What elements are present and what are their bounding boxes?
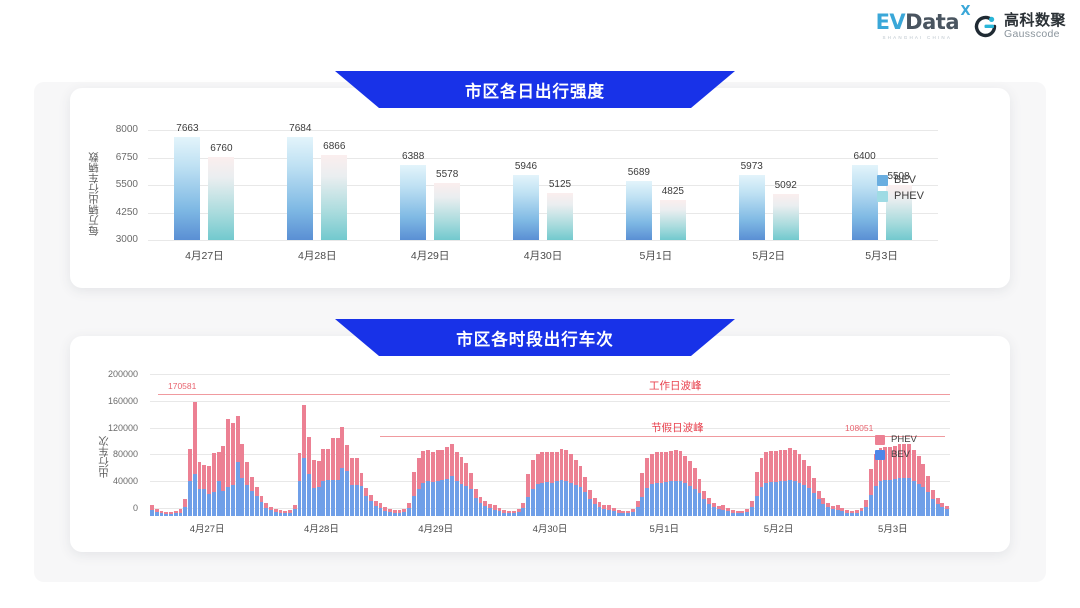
chart1-bar-value: 7684 — [277, 123, 323, 134]
chart2-segment-bev — [236, 462, 240, 516]
chart2-stacked-bar[interactable] — [307, 437, 311, 516]
chart2-stacked-bar[interactable] — [826, 503, 830, 516]
chart2-stacked-bar[interactable] — [283, 511, 287, 516]
chart2-segment-phev — [283, 511, 287, 513]
chart2-segment-bev — [217, 481, 221, 516]
chart2-y-tick: 0 — [90, 503, 138, 513]
chart2-segment-bev — [293, 509, 297, 516]
chart2-segment-phev — [488, 504, 492, 508]
chart2-segment-bev — [240, 478, 244, 516]
chart2-stacked-bar[interactable] — [160, 511, 164, 516]
chart2-stacked-bar[interactable] — [393, 510, 397, 516]
chart2-stacked-bar[interactable] — [626, 511, 630, 516]
chart2-plot-area — [150, 374, 950, 516]
chart2-segment-bev — [350, 485, 354, 516]
chart2-stacked-bar[interactable] — [436, 450, 440, 516]
chart2-stacked-bar[interactable] — [512, 511, 516, 516]
chart2-stacked-bar[interactable] — [564, 450, 568, 516]
chart2-stacked-bar[interactable] — [293, 505, 297, 516]
chart2-segment-bev — [364, 496, 368, 516]
chart1-bar-bev[interactable]: 5973 — [739, 175, 765, 240]
chart2-segment-bev — [902, 478, 906, 516]
chart2-segment-phev — [793, 450, 797, 481]
chart2-stacked-bar[interactable] — [493, 505, 497, 516]
chart2-segment-bev — [479, 503, 483, 516]
chart2-stacked-bar[interactable] — [421, 451, 425, 516]
chart2-stacked-bar[interactable] — [850, 511, 854, 516]
chart2-stacked-bar[interactable] — [779, 450, 783, 516]
chart2-segment-bev — [536, 484, 540, 516]
chart2-stacked-bar[interactable] — [683, 456, 687, 516]
chart2-segment-bev — [193, 474, 197, 516]
chart2-segment-bev — [631, 512, 635, 516]
chart2-segment-phev — [536, 454, 540, 484]
chart2-stacked-bar[interactable] — [793, 450, 797, 516]
chart2-stacked-bar[interactable] — [560, 449, 564, 516]
chart2-segment-bev — [374, 506, 378, 516]
chart2-segment-phev — [707, 498, 711, 504]
chart2-stacked-bar[interactable] — [707, 498, 711, 516]
chart2-stacked-bar[interactable] — [255, 487, 259, 516]
chart2-stacked-bar[interactable] — [555, 452, 559, 516]
chart2-stacked-bar[interactable] — [531, 460, 535, 516]
chart2-segment-phev — [817, 491, 821, 500]
chart2-stacked-bar[interactable] — [755, 472, 759, 516]
chart2-stacked-bar[interactable] — [869, 469, 873, 516]
chart2-segment-phev — [812, 478, 816, 493]
chart2-stacked-bar[interactable] — [417, 458, 421, 516]
chart2-stacked-bar[interactable] — [364, 488, 368, 516]
chart2-segment-bev — [621, 513, 625, 516]
chart2-segment-phev — [788, 448, 792, 479]
chart2-segment-bev — [755, 496, 759, 516]
chart1-bar-bev[interactable]: 6388 — [400, 165, 426, 240]
chart2-segment-bev — [431, 482, 435, 516]
chart2-stacked-bar[interactable] — [650, 454, 654, 516]
chart2-stacked-bar[interactable] — [764, 452, 768, 516]
chart2-segment-phev — [245, 462, 249, 485]
chart2-stacked-bar[interactable] — [221, 446, 225, 516]
chart2-segment-bev — [317, 487, 321, 516]
chart2-stacked-bar[interactable] — [598, 502, 602, 516]
chart2-stacked-bar[interactable] — [240, 444, 244, 516]
chart2-stacked-bar[interactable] — [836, 505, 840, 516]
chart2-segment-bev — [650, 484, 654, 516]
chart2-segment-bev — [298, 481, 302, 516]
chart2-stacked-bar[interactable] — [526, 474, 530, 516]
chart2-stacked-bar[interactable] — [821, 498, 825, 516]
chart2-segment-phev — [174, 511, 178, 513]
chart2-stacked-bar[interactable] — [698, 478, 702, 516]
chart2-stacked-bar[interactable] — [188, 449, 192, 516]
chart2-stacked-bar[interactable] — [612, 508, 616, 516]
chart2-stacked-bar[interactable] — [345, 445, 349, 516]
chart2-segment-bev — [283, 513, 287, 516]
chart2-segment-bev — [845, 513, 849, 516]
chart1-bar-phev[interactable]: 6866 — [321, 155, 347, 240]
chart1-bar-value: 7663 — [164, 123, 210, 134]
chart1-y-tick: 3000 — [96, 234, 138, 245]
chart2-stacked-bar[interactable] — [845, 510, 849, 516]
chart2-segment-phev — [936, 498, 940, 504]
chart2-segment-bev — [836, 510, 840, 516]
chart2-segment-phev — [379, 503, 383, 508]
chart2-stacked-bar[interactable] — [726, 508, 730, 516]
chart2-stacked-bar[interactable] — [550, 452, 554, 516]
legend-item-phev-2[interactable]: PHEV — [875, 432, 917, 447]
chart2-segment-phev — [412, 472, 416, 496]
chart2-stacked-bar[interactable] — [769, 451, 773, 516]
chart2-stacked-bar[interactable] — [321, 449, 325, 516]
chart2-stacked-bar[interactable] — [455, 452, 459, 516]
chart2-stacked-bar[interactable] — [450, 444, 454, 516]
legend-swatch-bev-icon — [877, 175, 888, 186]
chart2-stacked-bar[interactable] — [607, 505, 611, 516]
chart2-stacked-bar[interactable] — [621, 511, 625, 516]
gausscode-logo: 高科数聚 Gausscode — [973, 13, 1066, 40]
chart2-stacked-bar[interactable] — [412, 472, 416, 516]
chart2-segment-bev — [698, 493, 702, 516]
chart2-stacked-bar[interactable] — [536, 454, 540, 516]
chart2-stacked-bar[interactable] — [474, 489, 478, 516]
chart2-stacked-bar[interactable] — [669, 451, 673, 516]
chart2-stacked-bar[interactable] — [388, 509, 392, 516]
chart2-y-axis-label: 出行车次 — [96, 408, 111, 478]
chart2-stacked-bar[interactable] — [855, 510, 859, 516]
chart2-stacked-bar[interactable] — [660, 452, 664, 516]
chart2-stacked-bar[interactable] — [745, 509, 749, 516]
chart2-stacked-bar[interactable] — [645, 458, 649, 516]
chart2-stacked-bar[interactable] — [402, 509, 406, 516]
chart2-segment-bev — [702, 499, 706, 516]
chart2-stacked-bar[interactable] — [374, 501, 378, 516]
chart2-stacked-bar[interactable] — [617, 510, 621, 516]
chart2-segment-phev — [621, 511, 625, 513]
chart1-bar-bev[interactable]: 5689 — [626, 181, 652, 240]
chart2-stacked-bar[interactable] — [379, 503, 383, 516]
chart2-stacked-bar[interactable] — [679, 451, 683, 516]
chart2-stacked-bar[interactable] — [640, 473, 644, 516]
chart2-stacked-bar[interactable] — [936, 498, 940, 516]
evdata-wordmark: EVDataX — [876, 12, 959, 33]
chart2-stacked-bar[interactable] — [736, 511, 740, 516]
chart2-segment-phev — [840, 508, 844, 511]
chart2-segment-bev — [164, 514, 168, 516]
chart2-stacked-bar[interactable] — [269, 507, 273, 516]
chart2-segment-bev — [569, 483, 573, 517]
chart2-stacked-bar[interactable] — [931, 490, 935, 516]
chart2-segment-phev — [731, 510, 735, 512]
chart2-stacked-bar[interactable] — [202, 465, 206, 516]
chart2-segment-phev — [569, 454, 573, 482]
chart2-stacked-bar[interactable] — [664, 452, 668, 516]
legend-swatch-phev-icon — [877, 191, 888, 202]
chart2-segment-bev — [383, 511, 387, 516]
chart2-stacked-bar[interactable] — [331, 438, 335, 516]
chart2-stacked-bar[interactable] — [164, 512, 168, 516]
chart2-stacked-bar[interactable] — [788, 448, 792, 516]
chart2-x-tick: 5月1日 — [604, 521, 724, 535]
chart2-stacked-bar[interactable] — [407, 503, 411, 516]
chart2-segment-phev — [740, 511, 744, 513]
chart2-segment-bev — [707, 504, 711, 516]
chart2-stacked-bar[interactable] — [945, 506, 949, 516]
chart2-segment-bev — [807, 488, 811, 516]
chart2-segment-phev — [302, 405, 306, 457]
chart2-stacked-bar[interactable] — [545, 452, 549, 516]
chart1-bar-group: 59735092 — [739, 130, 799, 240]
chart2-stacked-bar[interactable] — [802, 460, 806, 516]
chart2-stacked-bar[interactable] — [426, 450, 430, 516]
chart2-stacked-bar[interactable] — [740, 511, 744, 516]
chart2-stacked-bar[interactable] — [169, 512, 173, 516]
chart2-stacked-bar[interactable] — [250, 477, 254, 516]
chart1-bar-value: 6760 — [198, 143, 244, 154]
chart1-bar-phev[interactable]: 5125 — [547, 193, 573, 240]
chart2-stacked-bar[interactable] — [674, 450, 678, 516]
chart2-stacked-bar[interactable] — [926, 476, 930, 516]
chart1-bar-phev[interactable]: 5578 — [434, 183, 460, 240]
chart2-segment-bev — [883, 480, 887, 516]
chart2-stacked-bar[interactable] — [317, 461, 321, 516]
chart2-stacked-bar[interactable] — [702, 491, 706, 516]
chart2-stacked-bar[interactable] — [288, 510, 292, 516]
chart1-bar-value: 5125 — [537, 179, 583, 190]
chart2-segment-phev — [679, 451, 683, 481]
chart2-segment-bev — [274, 512, 278, 516]
chart2-segment-phev — [579, 466, 583, 487]
chart2-stacked-bar[interactable] — [688, 461, 692, 516]
chart2-segment-bev — [721, 510, 725, 516]
chart2-stacked-bar[interactable] — [340, 427, 344, 516]
chart2-stacked-bar[interactable] — [502, 510, 506, 516]
chart2-stacked-bar[interactable] — [540, 452, 544, 516]
chart2-segment-phev — [393, 510, 397, 512]
chart2-stacked-bar[interactable] — [569, 454, 573, 516]
chart2-stacked-bar[interactable] — [507, 511, 511, 516]
chart2-segment-phev — [660, 452, 664, 482]
chart2-segment-bev — [660, 483, 664, 517]
chart2-segment-phev — [760, 458, 764, 487]
chart2-stacked-bar[interactable] — [445, 447, 449, 516]
chart2-segment-phev — [626, 511, 630, 513]
chart2-stacked-bar[interactable] — [655, 452, 659, 516]
chart2-stacked-bar[interactable] — [488, 504, 492, 516]
chart2-stacked-bar[interactable] — [179, 509, 183, 516]
chart2-segment-phev — [474, 489, 478, 498]
chart1-bar-value: 5092 — [763, 180, 809, 191]
chart2-stacked-bar[interactable] — [921, 464, 925, 516]
chart2-stacked-bar[interactable] — [712, 503, 716, 516]
chart2-stacked-bar[interactable] — [517, 509, 521, 516]
chart2-stacked-bar[interactable] — [150, 505, 154, 516]
chart2-segment-phev — [693, 468, 697, 489]
chart2-stacked-bar[interactable] — [731, 510, 735, 516]
chart2-stacked-bar[interactable] — [693, 468, 697, 516]
chart2-segment-bev — [155, 512, 159, 516]
gausscode-logo-icon — [973, 14, 998, 39]
chart2-stacked-bar[interactable] — [217, 452, 221, 516]
chart2-stacked-bar[interactable] — [807, 466, 811, 516]
chart2-stacked-bar[interactable] — [840, 508, 844, 516]
chart1-y-tick: 6750 — [96, 152, 138, 163]
chart2-stacked-bar[interactable] — [817, 491, 821, 516]
chart2-segment-bev — [526, 497, 530, 516]
chart2-stacked-bar[interactable] — [940, 503, 944, 516]
legend-item-bev[interactable]: BEV — [877, 172, 924, 188]
chart2-segment-bev — [302, 458, 306, 516]
chart1-bar-phev[interactable]: 6760 — [208, 157, 234, 240]
chart2-stacked-bar[interactable] — [721, 505, 725, 516]
chart2-stacked-bar[interactable] — [326, 449, 330, 516]
chart2-stacked-bar[interactable] — [874, 454, 878, 516]
chart2-stacked-bar[interactable] — [298, 453, 302, 516]
chart2-segment-phev — [198, 462, 202, 489]
chart2-stacked-bar[interactable] — [155, 509, 159, 516]
chart2-segment-phev — [231, 423, 235, 485]
chart2-stacked-bar[interactable] — [831, 506, 835, 516]
chart2-stacked-bar[interactable] — [236, 416, 240, 517]
chart2-segment-bev — [207, 494, 211, 516]
chart2-stacked-bar[interactable] — [583, 477, 587, 516]
chart2-stacked-bar[interactable] — [636, 501, 640, 516]
chart2-stacked-bar[interactable] — [245, 462, 249, 516]
chart2-stacked-bar[interactable] — [383, 507, 387, 516]
chart2-stacked-bar[interactable] — [774, 451, 778, 516]
chart2-peak-value-holiday: 108051 — [845, 423, 873, 433]
chart2-stacked-bar[interactable] — [760, 458, 764, 516]
chart2-stacked-bar[interactable] — [574, 460, 578, 516]
chart2-segment-bev — [602, 509, 606, 516]
chart2-stacked-bar[interactable] — [717, 506, 721, 516]
chart2-stacked-bar[interactable] — [440, 450, 444, 516]
chart2-segment-bev — [864, 507, 868, 516]
chart2-segment-phev — [469, 473, 473, 489]
chart2-annotation-label: 工作日波峰 — [649, 378, 702, 393]
chart2-stacked-bar[interactable] — [860, 508, 864, 516]
chart2-stacked-bar[interactable] — [274, 509, 278, 516]
chart2-segment-bev — [288, 513, 292, 516]
chart2-segment-phev — [402, 509, 406, 512]
chart2-segment-phev — [388, 509, 392, 512]
chart2-segment-phev — [236, 416, 240, 463]
chart2-stacked-bar[interactable] — [279, 510, 283, 516]
chart2-segment-phev — [517, 509, 521, 512]
chart2-stacked-bar[interactable] — [864, 500, 868, 516]
chart2-segment-bev — [498, 511, 502, 516]
chart2-segment-bev — [812, 493, 816, 516]
chart2-stacked-bar[interactable] — [631, 509, 635, 516]
chart2-stacked-bar[interactable] — [260, 496, 264, 516]
chart2-segment-phev — [207, 466, 211, 494]
chart2-stacked-bar[interactable] — [207, 466, 211, 516]
chart2-segment-bev — [555, 481, 559, 516]
chart2-segment-bev — [421, 483, 425, 517]
chart2-stacked-bar[interactable] — [183, 499, 187, 516]
legend-item-bev-2[interactable]: BEV — [875, 447, 917, 462]
chart2-stacked-bar[interactable] — [360, 473, 364, 516]
chart2-stacked-bar[interactable] — [798, 454, 802, 516]
chart2-stacked-bar[interactable] — [336, 438, 340, 516]
chart2-stacked-bar[interactable] — [198, 462, 202, 516]
chart2-segment-phev — [355, 458, 359, 485]
legend-label-bev: BEV — [894, 174, 916, 186]
chart2-segment-bev — [912, 481, 916, 516]
chart2-y-tick: 200000 — [90, 369, 138, 379]
chart2-stacked-bar[interactable] — [812, 478, 816, 516]
chart2-x-tick: 4月27日 — [147, 521, 267, 535]
chart2-stacked-bar[interactable] — [588, 490, 592, 516]
chart2-segment-bev — [831, 509, 835, 516]
chart2-stacked-bar[interactable] — [212, 453, 216, 516]
chart2-segment-bev — [693, 489, 697, 516]
chart2-segment-bev — [336, 480, 340, 516]
chart2-segment-bev — [726, 511, 730, 516]
chart1-bar-value: 6400 — [842, 151, 888, 162]
chart2-stacked-bar[interactable] — [350, 458, 354, 516]
chart2-segment-bev — [907, 478, 911, 516]
chart2-stacked-bar[interactable] — [521, 503, 525, 516]
chart2-segment-bev — [821, 504, 825, 516]
chart2-stacked-bar[interactable] — [174, 511, 178, 516]
chart1-bar-bev[interactable]: 6400 — [852, 165, 878, 240]
chart2-x-tick: 4月29日 — [376, 521, 496, 535]
chart2-segment-bev — [931, 499, 935, 516]
chart2-segment-bev — [840, 511, 844, 516]
chart1-bar-phev[interactable]: 4825 — [660, 200, 686, 240]
chart2-stacked-bar[interactable] — [302, 405, 306, 516]
chart2-stacked-bar[interactable] — [226, 419, 230, 516]
chart2-segment-phev — [683, 456, 687, 483]
chart2-stacked-bar[interactable] — [593, 498, 597, 516]
chart2-stacked-bar[interactable] — [602, 505, 606, 516]
chart2-stacked-bar[interactable] — [469, 473, 473, 516]
chart2-stacked-bar[interactable] — [479, 497, 483, 516]
chart1-bar-group: 76636760 — [174, 130, 234, 240]
chart2-stacked-bar[interactable] — [312, 460, 316, 516]
chart1-bar-bev[interactable]: 7663 — [174, 137, 200, 240]
chart2-stacked-bar[interactable] — [355, 458, 359, 516]
chart2-x-tick: 5月3日 — [833, 521, 953, 535]
legend-item-phev[interactable]: PHEV — [877, 188, 924, 204]
chart2-stacked-bar[interactable] — [193, 402, 197, 516]
chart2-segment-bev — [655, 483, 659, 517]
chart2-stacked-bar[interactable] — [579, 466, 583, 516]
chart2-stacked-bar[interactable] — [398, 510, 402, 516]
chart2-stacked-bar[interactable] — [264, 503, 268, 516]
chart2-segment-bev — [179, 513, 183, 516]
chart2-stacked-bar[interactable] — [431, 452, 435, 516]
chart2-segment-bev — [888, 480, 892, 516]
chart1-bar-phev[interactable]: 5092 — [773, 194, 799, 240]
chart2-segment-phev — [317, 461, 321, 487]
chart2-stacked-bar[interactable] — [783, 450, 787, 516]
chart2-stacked-bar[interactable] — [231, 423, 235, 516]
chart2-stacked-bar[interactable] — [460, 457, 464, 516]
chart2-stacked-bar[interactable] — [369, 495, 373, 516]
chart2-annotation-label: 节假日波峰 — [651, 420, 704, 435]
chart2-segment-bev — [160, 513, 164, 516]
chart2-stacked-bar[interactable] — [464, 463, 468, 516]
chart2-segment-bev — [340, 468, 344, 516]
chart2-stacked-bar[interactable] — [917, 456, 921, 516]
chart2-stacked-bar[interactable] — [750, 501, 754, 516]
chart2-segment-bev — [893, 479, 897, 516]
chart1-bar-bev[interactable]: 5946 — [513, 175, 539, 240]
chart2-stacked-bar[interactable] — [498, 508, 502, 516]
chart2-stacked-bar[interactable] — [483, 501, 487, 516]
chart1-bar-bev[interactable]: 7684 — [287, 137, 313, 240]
